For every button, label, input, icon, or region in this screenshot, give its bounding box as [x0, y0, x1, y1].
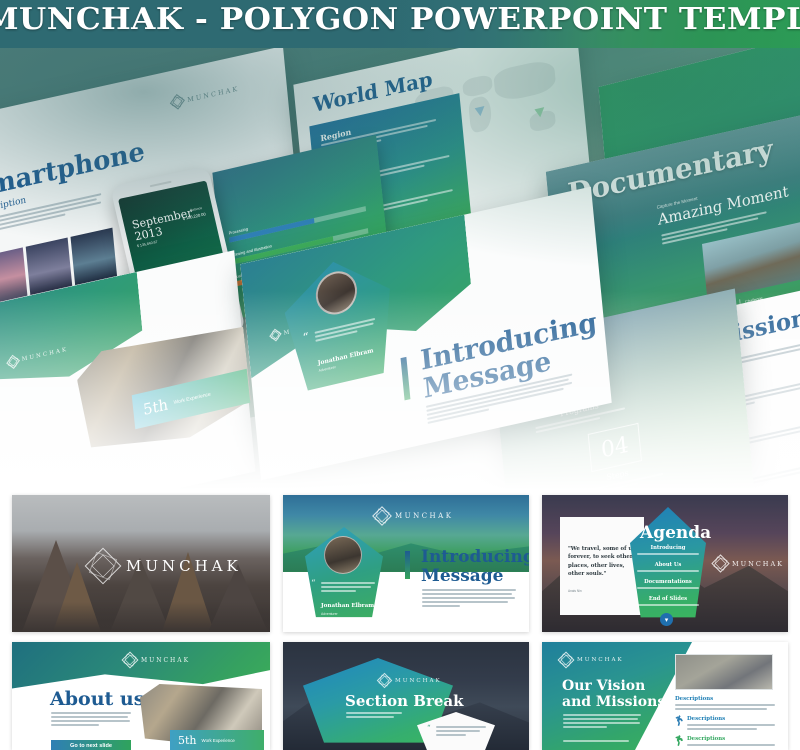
agenda-brand-lockup: MUNCHAK [714, 557, 784, 570]
slide-thumbnail-grid: MUNCHAK MUNCHAK “ Jonathan Elbra [0, 490, 800, 750]
thumb-agenda-slide[interactable]: "We travel, some of us forever, to seek … [542, 495, 788, 632]
section-quote [436, 726, 486, 738]
cover-brand-lockup: MUNCHAK [90, 553, 242, 579]
hiker-icon [675, 735, 684, 746]
vision-section-label-0: Descriptions [675, 696, 775, 702]
agenda-scroll-down-button[interactable]: ▾ [660, 613, 673, 626]
hero-mockup-scene: Smartphone Description [0, 48, 800, 490]
vision-body [563, 714, 641, 730]
logo-diamond-icon [124, 654, 136, 666]
cover-brand-name: MUNCHAK [126, 557, 242, 575]
logo-diamond-icon [714, 557, 727, 570]
intro-thumb-title-line2: Message [421, 566, 504, 586]
vision-section-0: Descriptions [675, 696, 775, 712]
about-thumb-body [51, 712, 131, 728]
about-thumb-next-button[interactable]: Go to next slide [51, 740, 131, 750]
thumb-section-break-slide[interactable]: MUNCHAK Section Break “ [283, 642, 529, 750]
thumb-introducing-slide[interactable]: MUNCHAK “ Jonathan Elbram Adventurer Int… [283, 495, 529, 632]
agenda-quote-card: "We travel, some of us forever, to seek … [560, 517, 644, 615]
logo-diamond-icon [379, 675, 390, 686]
intro-thumb-title-line1: Introducing [421, 547, 529, 567]
agenda-item-3[interactable]: End of Slides [637, 596, 699, 608]
header-banner: MUNCHAK - POLYGON POWERPOINT TEMPLATE [0, 0, 800, 48]
intro-thumb-brand: MUNCHAK [375, 509, 453, 523]
vision-photo [675, 654, 773, 690]
section-body [346, 712, 402, 720]
vision-body-2 [563, 740, 641, 744]
agenda-item-label-0: Introducing [637, 545, 699, 551]
about-thumb-badge-label: Work Experience [202, 738, 235, 743]
logo-diamond-icon [560, 654, 572, 666]
thumb-cover-slide[interactable]: MUNCHAK [12, 495, 270, 632]
about-thumb-badge-number: 5th [178, 734, 197, 747]
agenda-item-label-1: About Us [637, 562, 699, 568]
agenda-item-label-2: Documentations [637, 579, 699, 585]
logo-diamond-icon [90, 553, 116, 579]
intro-thumb-body [422, 589, 516, 609]
intro-thumb-avatar [324, 536, 362, 574]
about-thumb-title: About us [50, 688, 144, 710]
agenda-title: Agenda [640, 523, 711, 543]
runner-icon [675, 715, 684, 726]
section-title: Section Break [345, 692, 464, 710]
agenda-item-0[interactable]: Introducing [637, 545, 699, 557]
thumb-our-vision-slide[interactable]: MUNCHAK Our Vision and Missions Descript… [542, 642, 788, 750]
page-title: MUNCHAK - POLYGON POWERPOINT TEMPLATE [0, 2, 800, 37]
section-quote-mark: “ [427, 724, 431, 732]
intro-thumb-quote-mark: “ [311, 579, 316, 589]
vision-brand-lockup: MUNCHAK [560, 654, 624, 666]
thumb-about-us-slide[interactable]: MUNCHAK About us Go to next slide 5th Wo… [12, 642, 270, 750]
vision-section-label-1: Descriptions [687, 716, 775, 722]
logo-diamond-icon [375, 509, 389, 523]
vision-title-line2: and Missions [562, 694, 665, 710]
agenda-quote-author: Anais Nin [568, 589, 582, 593]
brand-name: MUNCHAK [141, 657, 190, 664]
agenda-item-2[interactable]: Documentations [637, 579, 699, 591]
vision-title-line1: Our Vision [562, 678, 645, 694]
agenda-item-label-3: End of Slides [637, 596, 699, 602]
section-brand-lockup: MUNCHAK [379, 675, 442, 686]
intro-thumb-quote [321, 582, 375, 594]
vision-section-2: Descriptions [687, 736, 775, 748]
agenda-item-1[interactable]: About Us [637, 562, 699, 574]
brand-name: MUNCHAK [395, 512, 453, 520]
product-preview-page: MUNCHAK - POLYGON POWERPOINT TEMPLATE Sm… [0, 0, 800, 750]
brand-name: MUNCHAK [577, 657, 624, 663]
brand-name: MUNCHAK [732, 560, 784, 568]
brand-name: MUNCHAK [395, 678, 442, 684]
agenda-quote-text: "We travel, some of us forever, to seek … [568, 545, 636, 579]
intro-thumb-person-role: Adventurer [321, 612, 338, 616]
hero-fade-overlay [0, 48, 800, 490]
intro-thumb-accent-bar [405, 551, 410, 579]
about-thumb-brand: MUNCHAK [124, 654, 190, 666]
intro-thumb-person-name: Jonathan Elbram [321, 603, 374, 609]
about-thumb-badge: 5th Work Experience [170, 730, 264, 750]
vision-section-1: Descriptions [687, 716, 775, 732]
vision-section-label-2: Descriptions [687, 736, 775, 742]
